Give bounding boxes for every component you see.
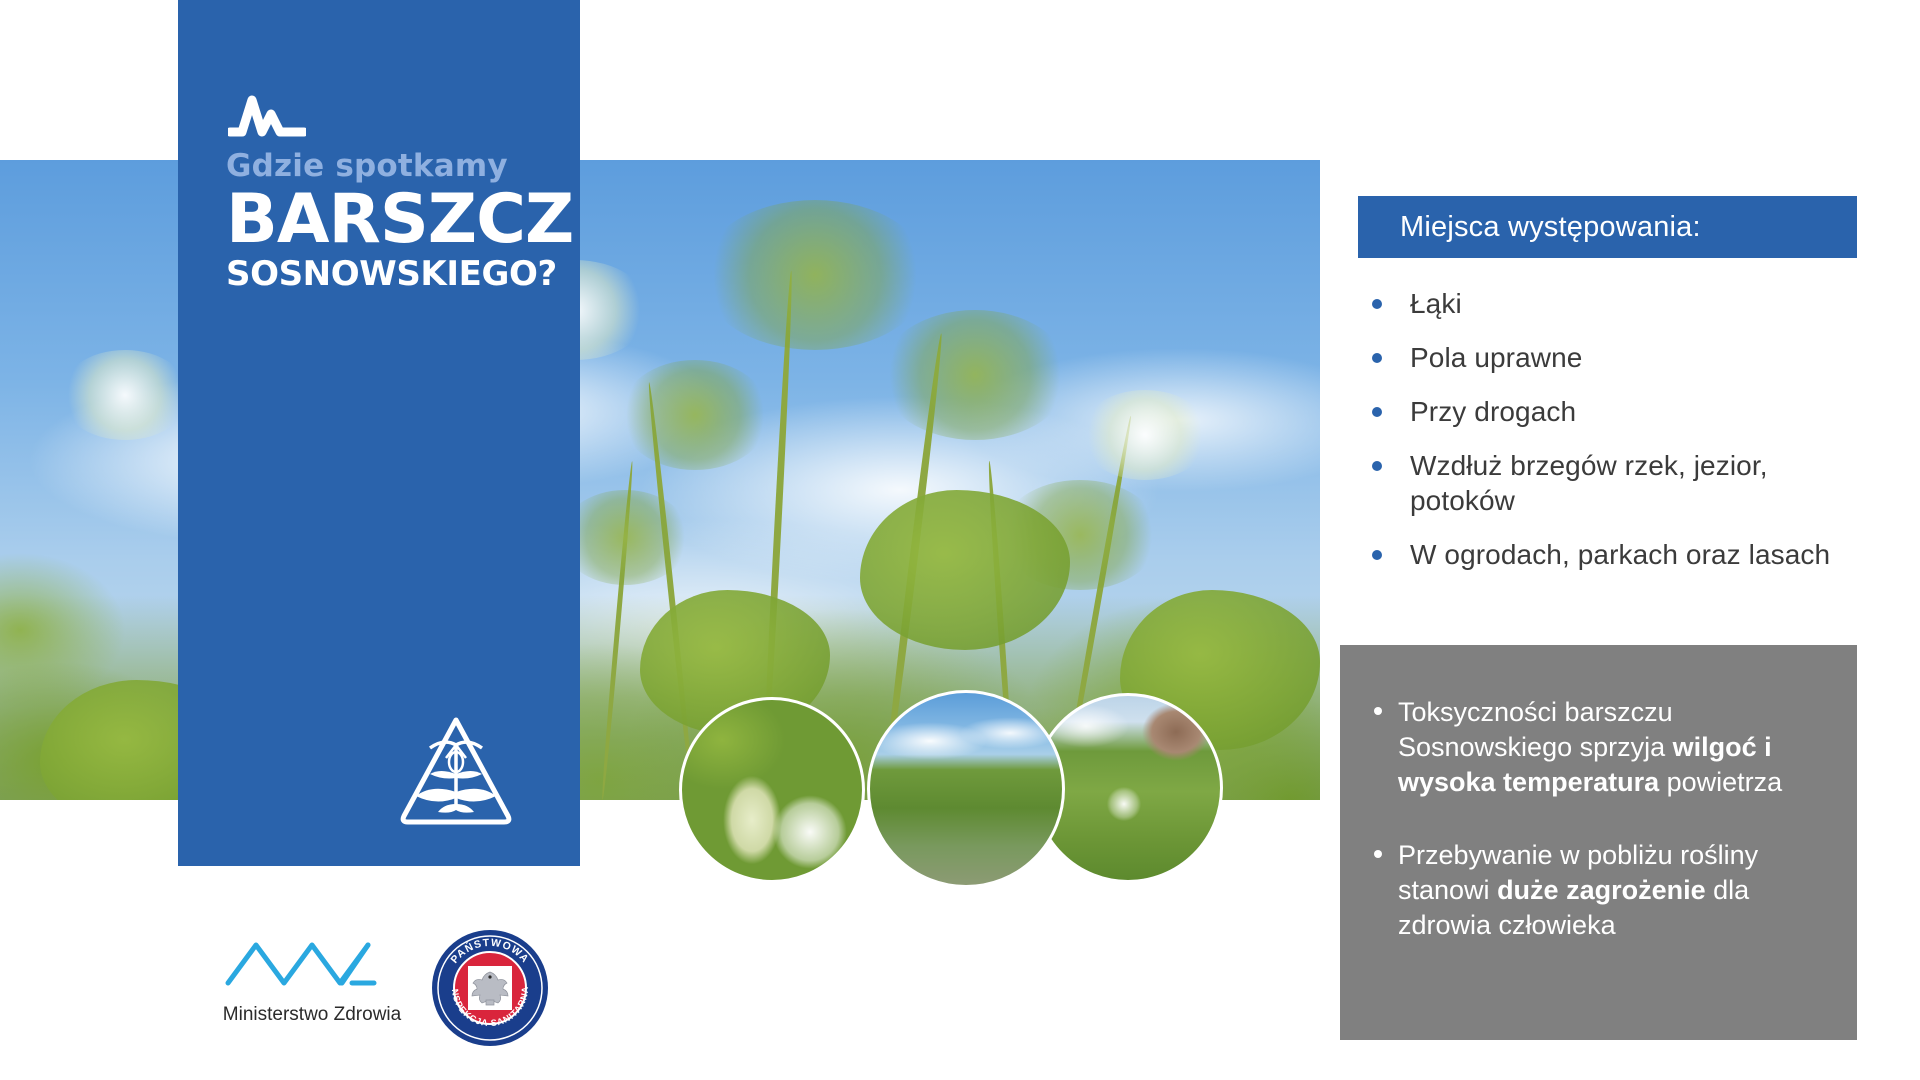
risk-item-text: Przebywanie w pobliżu rośliny stanowi du… [1398, 840, 1758, 940]
list-item: Łąki [1358, 287, 1878, 321]
risk-list: Toksyczności barszczu Sosnowskiego sprzy… [1362, 695, 1832, 982]
ministry-logo-caption: Ministerstwo Zdrowia [222, 1004, 402, 1026]
circle-photo-hogweed-bud-closeup [679, 697, 865, 883]
list-item: Przy drogach [1358, 395, 1878, 429]
list-item-label: Łąki [1410, 288, 1462, 319]
page-subtitle: SOSNOWSKIEGO? [226, 257, 556, 292]
list-item: Przebywanie w pobliżu rośliny stanowi du… [1362, 838, 1832, 943]
places-header-banner: Miejsca występowania: [1358, 196, 1857, 258]
list-item: Wzdłuż brzegów rzek, jezior, potoków [1358, 449, 1878, 517]
bullet-dot-icon [1372, 461, 1382, 471]
list-item: Pola uprawne [1358, 341, 1878, 375]
ministry-of-health-logo: Ministerstwo Zdrowia [222, 935, 402, 1026]
list-item: Toksyczności barszczu Sosnowskiego sprzy… [1362, 695, 1832, 800]
title-kicker: Gdzie spotkamy [226, 150, 556, 183]
list-item-label: W ogrodach, parkach oraz lasach [1410, 539, 1830, 570]
risk-box: Toksyczności barszczu Sosnowskiego sprzy… [1340, 645, 1857, 1040]
bullet-dot-icon [1372, 407, 1382, 417]
bullet-dot-icon [1372, 353, 1382, 363]
list-item-label: Pola uprawne [1410, 342, 1582, 373]
bullet-dot-icon [1374, 850, 1382, 858]
list-item-label: Przy drogach [1410, 396, 1576, 427]
list-item-label: Wzdłuż brzegów rzek, jezior, potoków [1410, 450, 1768, 515]
title-block: Gdzie spotkamy BARSZCZ SOSNOWSKIEGO? [226, 150, 556, 292]
bullet-dot-icon [1372, 550, 1382, 560]
list-item: W ogrodach, parkach oraz lasach [1358, 538, 1878, 572]
mz-mark-icon [222, 935, 402, 991]
pulse-icon [228, 92, 306, 138]
bullet-dot-icon [1372, 299, 1382, 309]
page-title: BARSZCZ [226, 187, 556, 254]
warning-triangle-plant-icon [396, 712, 516, 830]
title-panel: Gdzie spotkamy BARSZCZ SOSNOWSKIEGO? [178, 0, 580, 866]
places-list: Łąki Pola uprawne Przy drogach Wzdłuż br… [1358, 287, 1878, 592]
places-header-text: Miejsca występowania: [1358, 211, 1701, 244]
sanitary-inspection-seal: PAŃSTWOWA INSPEKCJA SANITARNA [430, 928, 550, 1048]
circle-photo-country-road-between-fields [867, 690, 1065, 888]
bullet-dot-icon [1374, 707, 1382, 715]
risk-item-text: Toksyczności barszczu Sosnowskiego sprzy… [1398, 697, 1782, 797]
